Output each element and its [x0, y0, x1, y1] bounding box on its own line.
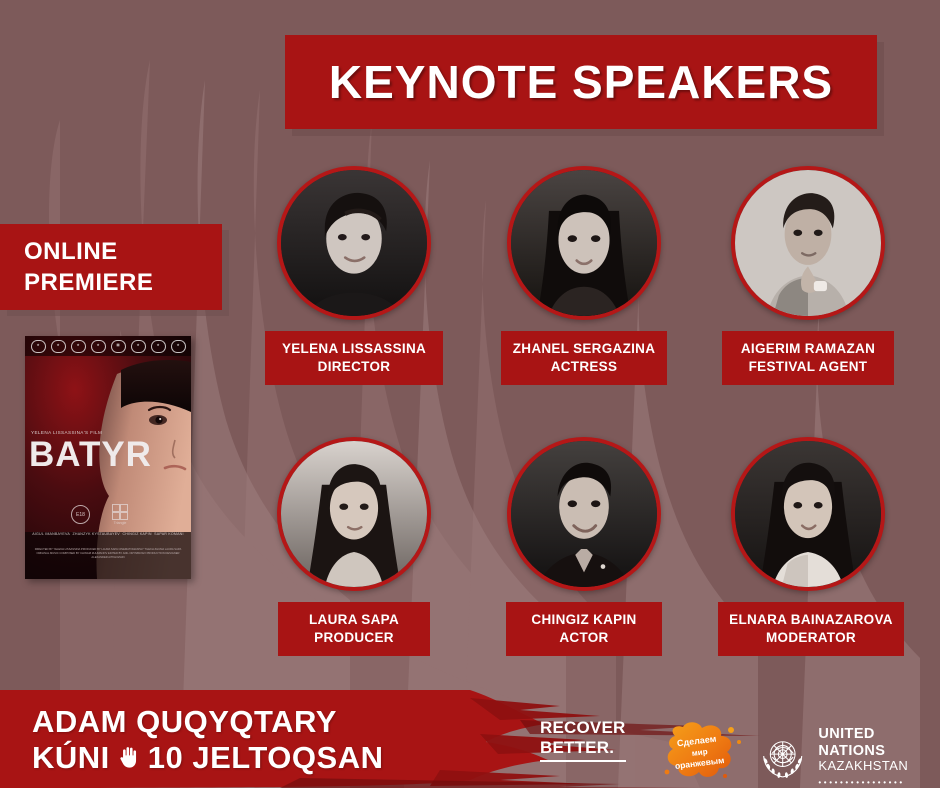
event-title: ADAM QUQYQTARY KÚNI 10 JELTOQSAN	[32, 704, 383, 775]
event-title-line2-prefix: KÚNI	[32, 740, 110, 776]
speaker-name-plate: LAURA SAPA PRODUCER	[278, 602, 430, 656]
laurel-icon: ★	[151, 340, 166, 353]
speaker-card[interactable]: AIGERIM RAMAZAN FESTIVAL AGENT	[718, 166, 898, 385]
event-title-line2-suffix: 10 JELTOQSAN	[148, 740, 384, 776]
speaker-name: ELNARA BAINAZAROVA	[729, 611, 893, 629]
age-rating-badge: E18	[71, 505, 90, 524]
cast-name: AIGUL IMANBAYEVA	[32, 532, 70, 537]
laurel-icon: ★	[171, 340, 186, 353]
grid-logo: Triangle	[112, 504, 128, 525]
avatar	[731, 437, 885, 591]
film-poster-title: BATYR	[29, 437, 152, 472]
speaker-name-plate: AIGERIM RAMAZAN FESTIVAL AGENT	[722, 331, 894, 385]
speaker-card[interactable]: ELNARA BAINAZAROVA MODERATOR	[718, 437, 898, 656]
portrait-zhanel-sergazina	[511, 170, 657, 316]
online-premiere-line2: PREMIERE	[24, 267, 222, 298]
page-title: KEYNOTE SPEAKERS	[329, 55, 833, 109]
avatar	[507, 166, 661, 320]
speaker-role: PRODUCER	[314, 629, 394, 647]
avatar	[277, 166, 431, 320]
film-poster[interactable]: ★ ★ ★ ★ ▦ ★ ★ ★ YELENA LISSASSINA'S FILM…	[25, 336, 191, 579]
speaker-name-plate: ZHANEL SERGAZINA ACTRESS	[501, 331, 667, 385]
avatar	[277, 437, 431, 591]
poster-root: KEYNOTE SPEAKERS ONLINE PREMIERE	[0, 0, 940, 788]
laurel-icon: ▦	[111, 340, 126, 353]
recover-better-logo: RECOVER BETTER.	[540, 718, 626, 762]
united-nations-logo: UNITED NATIONS KAZAKHSTAN ••••••••••••••…	[757, 726, 940, 787]
un-logo-dots: ••••••••••••••••	[818, 778, 940, 787]
festival-laurels: ★ ★ ★ ★ ▦ ★ ★ ★	[25, 336, 191, 356]
laurel-icon: ★	[131, 340, 146, 353]
speaker-card[interactable]: ZHANEL SERGAZINA ACTRESS	[494, 166, 674, 385]
cast-name: ZHANZYK KYSTAUBAYEV	[73, 532, 120, 537]
film-poster-cast: AIGUL IMANBAYEVA ZHANZYK KYSTAUBAYEV CHI…	[25, 532, 191, 537]
online-premiere-line1: ONLINE	[24, 236, 222, 267]
speaker-name: LAURA SAPA	[309, 611, 399, 629]
recover-better-line2: BETTER.	[540, 738, 626, 758]
title-banner: KEYNOTE SPEAKERS	[285, 35, 877, 129]
cast-name: SAPAR KOMANI	[154, 532, 184, 537]
speaker-role: ACTOR	[559, 629, 608, 647]
grid-logo-label: Triangle	[112, 521, 128, 525]
speaker-card[interactable]: LAURA SAPA PRODUCER	[264, 437, 444, 656]
grid-icon	[112, 504, 128, 520]
portrait-laura-sapa	[281, 441, 427, 587]
speaker-role: FESTIVAL AGENT	[749, 358, 868, 376]
event-title-line1: ADAM QUQYQTARY	[32, 704, 383, 740]
speaker-card[interactable]: CHINGIZ KAPIN ACTOR	[494, 437, 674, 656]
laurel-icon: ★	[71, 340, 86, 353]
un-emblem-icon	[757, 730, 808, 784]
recover-better-line1: RECOVER	[540, 718, 626, 738]
portrait-elnara-bainazarova	[735, 441, 881, 587]
un-logo-text: UNITED NATIONS KAZAKHSTAN ••••••••••••••…	[818, 726, 940, 787]
film-poster-fineprint: DIRECTED BY YELENA LISSASSINA PRODUCED B…	[33, 548, 183, 560]
recover-better-underline	[540, 760, 626, 762]
film-poster-badges: E18 Triangle	[71, 504, 128, 525]
speaker-name: AIGERIM RAMAZAN	[741, 340, 875, 358]
avatar	[731, 166, 885, 320]
cast-name: CHINGIZ KAPIN	[122, 532, 151, 537]
speaker-name: YELENA LISSASSINA	[282, 340, 426, 358]
speaker-role: MODERATOR	[766, 629, 856, 647]
speaker-card[interactable]: YELENA LISSASSINA DIRECTOR	[264, 166, 444, 385]
laurel-icon: ★	[31, 340, 46, 353]
speaker-name-plate: ELNARA BAINAZAROVA MODERATOR	[718, 602, 904, 656]
orange-splat-logo: Сделаем мир оранжевым	[655, 718, 747, 784]
speaker-name: ZHANEL SERGAZINA	[513, 340, 656, 358]
raised-hand-icon	[116, 744, 142, 770]
online-premiere-banner: ONLINE PREMIERE	[0, 224, 222, 310]
portrait-yelena-lissassina	[281, 170, 427, 316]
un-logo-line1: UNITED NATIONS	[818, 726, 940, 759]
speaker-role: ACTRESS	[551, 358, 618, 376]
laurel-icon: ★	[91, 340, 106, 353]
speaker-name-plate: CHINGIZ KAPIN ACTOR	[506, 602, 662, 656]
speaker-name: CHINGIZ KAPIN	[531, 611, 636, 629]
speaker-name-plate: YELENA LISSASSINA DIRECTOR	[265, 331, 443, 385]
un-logo-line2: KAZAKHSTAN	[818, 759, 940, 774]
avatar	[507, 437, 661, 591]
portrait-aigerim-ramazan	[735, 170, 881, 316]
portrait-chingiz-kapin	[511, 441, 657, 587]
speaker-role: DIRECTOR	[318, 358, 391, 376]
laurel-icon: ★	[51, 340, 66, 353]
